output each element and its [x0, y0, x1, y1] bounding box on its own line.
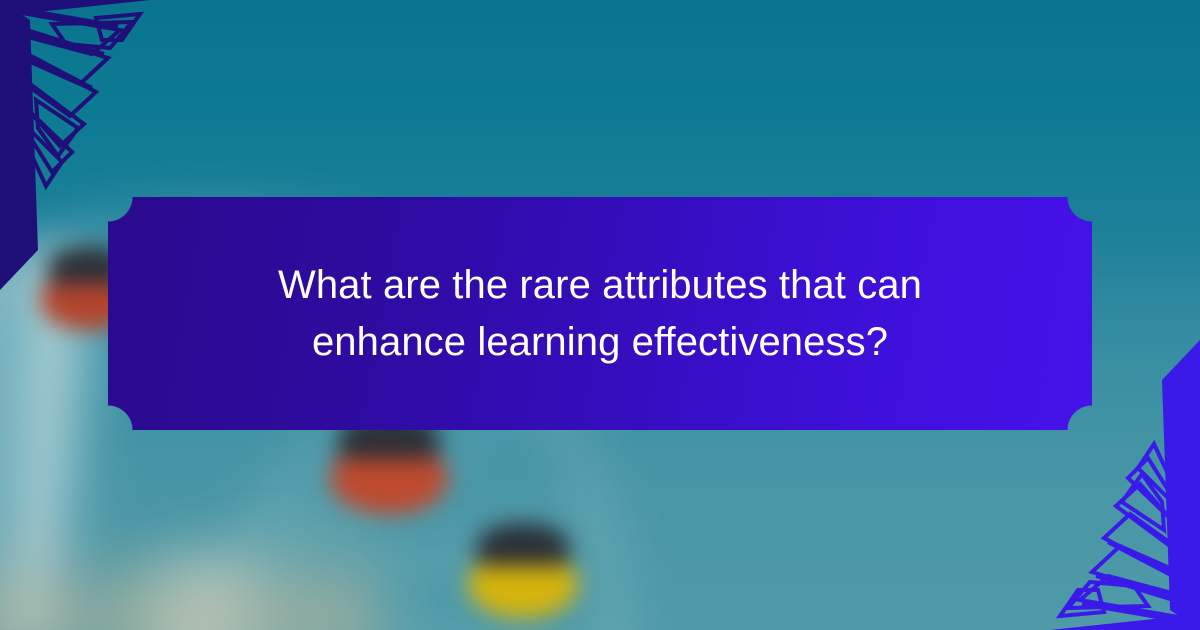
question-card: What are the rare attributes that can en… [108, 197, 1092, 430]
gondola-canopy [477, 523, 569, 566]
gondola-yellow [468, 548, 578, 618]
card-title: What are the rare attributes that can en… [180, 257, 1020, 371]
gondola-red-lower [330, 440, 448, 514]
ground-haze [0, 530, 380, 630]
promo-card-image: What are the rare attributes that can en… [0, 0, 1200, 630]
